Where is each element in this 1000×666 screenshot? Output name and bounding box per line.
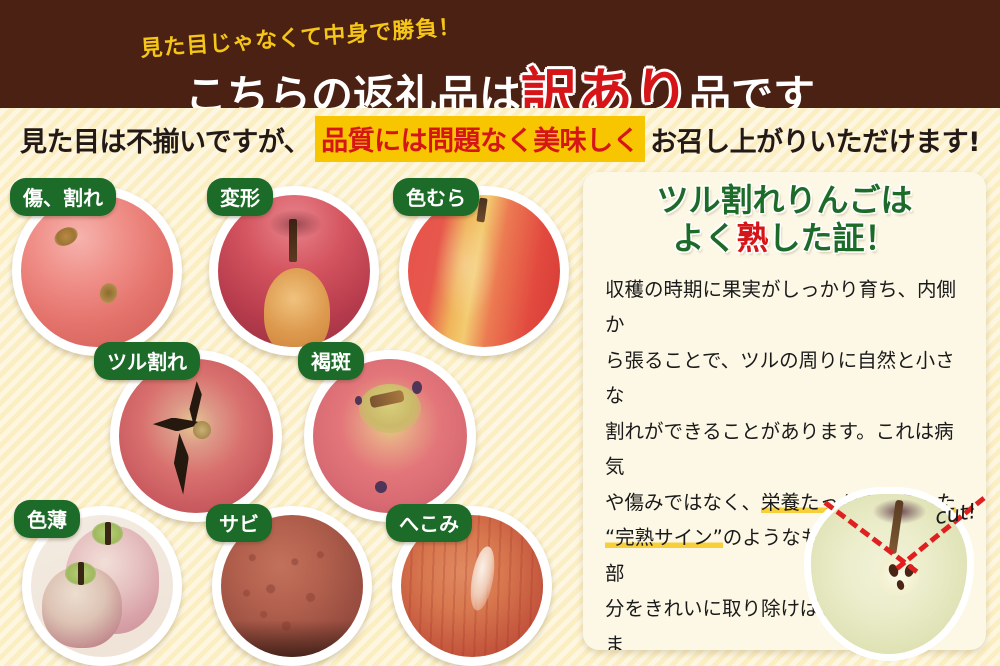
defect-label-4: 褐斑 bbox=[298, 342, 364, 380]
defect-cell-irousu: 色薄 bbox=[18, 500, 186, 666]
defect-cell-sabi: サビ bbox=[208, 500, 376, 666]
subtitle-before: 見た目は不揃いですが、 bbox=[20, 120, 310, 159]
promo-page: 見た目じゃなくて中身で勝負！ こちらの返礼品は訳あり品です 見た目は不揃いですが… bbox=[0, 0, 1000, 666]
body-line-2: ら張ることで、ツルの周りに自然と小さな bbox=[605, 343, 965, 414]
defect-label-5: 色薄 bbox=[14, 500, 80, 538]
defect-label-6: サビ bbox=[206, 504, 272, 542]
heading-line-2b: 熟 bbox=[736, 219, 768, 257]
body-line-3: 割れができることがあります。これは病気 bbox=[605, 414, 965, 485]
cut-label: cut! bbox=[933, 499, 978, 529]
apple-art bbox=[218, 195, 370, 347]
apple-art bbox=[21, 195, 173, 347]
apple-art bbox=[408, 195, 560, 347]
body-line-4a: や傷みではなく、 bbox=[605, 491, 761, 514]
info-panel-heading: ツル割れりんごは よく熟した証！ bbox=[583, 182, 986, 258]
defect-cell-tsuruware: ツル割れ bbox=[106, 342, 286, 522]
heading-line-1: ツル割れりんごは bbox=[583, 182, 986, 220]
body-line-5-marked: “完熟サイン” bbox=[605, 526, 723, 549]
defect-label-1: 変形 bbox=[207, 178, 273, 216]
header-title-highlight: 訳あり bbox=[521, 63, 689, 108]
defect-cell-kappan: 褐斑 bbox=[300, 342, 480, 522]
heading-line-2c: した証！ bbox=[769, 219, 897, 257]
header-title-part1: こちらの返礼品は bbox=[185, 71, 521, 108]
defect-cell-iromura: 色むら bbox=[395, 178, 573, 356]
header-title-part2: 品です bbox=[689, 71, 815, 108]
defect-cell-kizu: 傷、割れ bbox=[8, 178, 186, 356]
header-banner: 見た目じゃなくて中身で勝負！ こちらの返礼品は訳あり品です bbox=[0, 0, 1000, 108]
defect-cell-hekomi: へこみ bbox=[388, 500, 556, 666]
subtitle-line: 見た目は不揃いですが、 品質には問題なく美味しく お召し上がりいただけます! bbox=[0, 108, 1000, 170]
defect-label-2: 色むら bbox=[393, 178, 479, 216]
apple-art bbox=[119, 359, 273, 513]
subtitle-highlight: 品質には問題なく美味しく bbox=[315, 116, 645, 162]
defect-label-3: ツル割れ bbox=[94, 342, 200, 380]
heading-line-2a: よく bbox=[672, 219, 736, 257]
defect-cell-henkei: 変形 bbox=[205, 178, 383, 356]
cut-apple-photo: cut! bbox=[805, 488, 973, 660]
heading-line-2: よく熟した証！ bbox=[583, 220, 986, 258]
defect-label-0: 傷、割れ bbox=[10, 178, 116, 216]
subtitle-after: お召し上がりいただけます! bbox=[650, 120, 980, 159]
defect-label-7: へこみ bbox=[386, 504, 472, 542]
header-title: こちらの返礼品は訳あり品です bbox=[0, 50, 1000, 108]
apple-art bbox=[313, 359, 467, 513]
body-line-1: 収穫の時期に果実がしっかり育ち、内側か bbox=[605, 272, 965, 343]
